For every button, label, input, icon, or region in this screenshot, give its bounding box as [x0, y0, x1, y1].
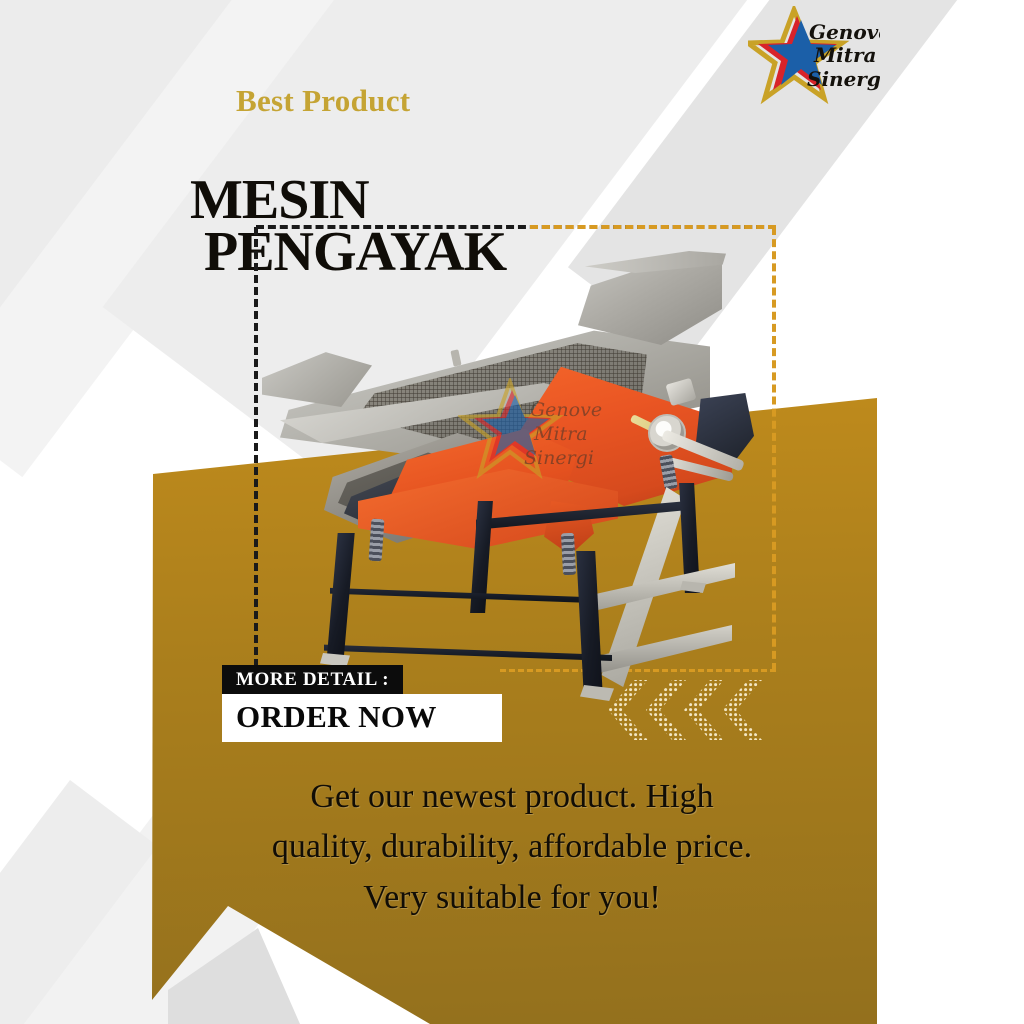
tagline-line-2: quality, durability, affordable price. [180, 822, 844, 872]
tagline-line-1: Get our newest product. High [180, 772, 844, 822]
vibration-spring [561, 533, 576, 576]
order-now-button[interactable]: ORDER NOW [222, 694, 502, 742]
photo-watermark: Genove Mitra Sinergi [458, 378, 618, 488]
vibration-spring [369, 519, 385, 562]
dashed-frame-bottom [500, 669, 776, 672]
product-photo: Genove Mitra Sinergi [262, 233, 762, 633]
dashed-frame-top-gold [530, 225, 776, 229]
frame-leg [326, 533, 354, 663]
logo-line1: Genove [809, 20, 880, 44]
watermark-line2: Mitra [533, 423, 588, 445]
watermark-line1: Genove [530, 399, 602, 421]
eyebrow-text: Best Product [236, 83, 410, 119]
frame-leg [576, 551, 603, 696]
watermark-line3: Sinergi [524, 447, 594, 469]
logo-line2: Mitra [813, 43, 876, 67]
chevron-arrows-icon [604, 678, 774, 742]
dashed-frame-right [772, 227, 776, 671]
tagline: Get our newest product. High quality, du… [180, 772, 844, 923]
diagonal-stripe-decor [0, 780, 158, 1024]
frame-rail-front-bottom [324, 641, 612, 661]
dashed-frame-left [254, 227, 258, 667]
tagline-line-3: Very suitable for you! [180, 873, 844, 923]
more-detail-label: MORE DETAIL : [222, 665, 403, 696]
brand-logo: Genove Mitra Sinergi [748, 6, 880, 110]
tray-stud [450, 349, 461, 366]
logo-line3: Sinergi [807, 67, 880, 91]
frame-rail-right-mid [590, 563, 735, 615]
poster-canvas: Genove Mitra Sinergi Best Product MESIN … [0, 0, 1024, 1024]
frame-rail-front-mid [330, 585, 592, 603]
